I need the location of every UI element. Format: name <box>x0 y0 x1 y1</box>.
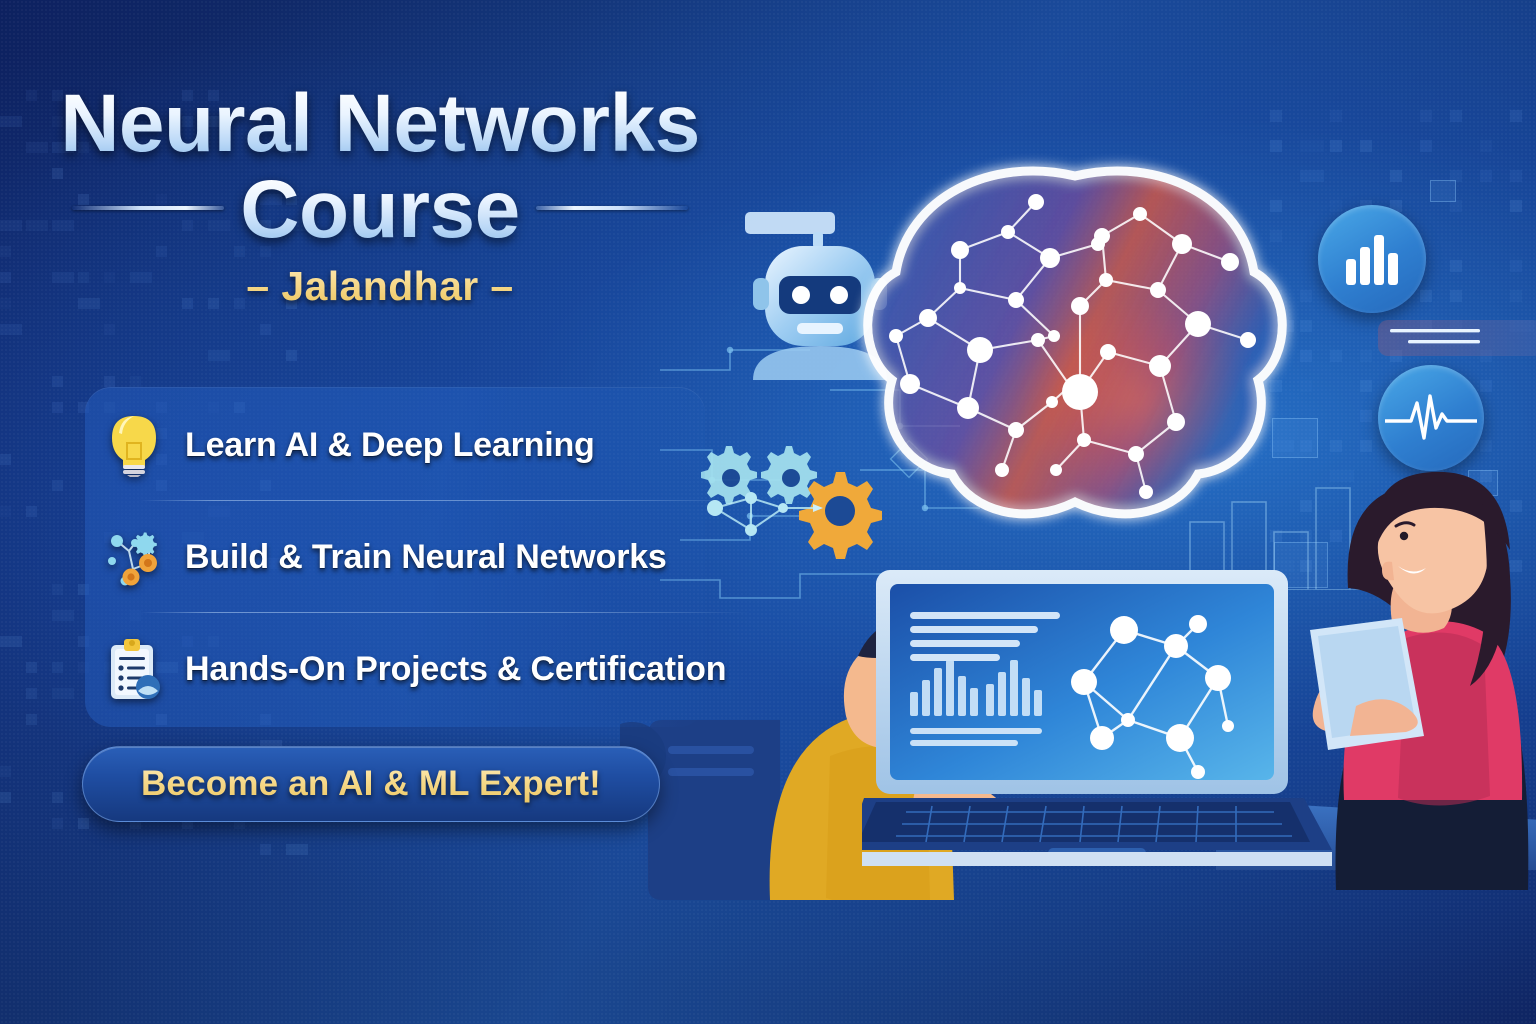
feature-label: Build & Train Neural Networks <box>185 538 667 577</box>
laptop-with-dashboard <box>862 568 1332 868</box>
bar-chart-icon-circle <box>1318 205 1426 313</box>
glass-square <box>1274 542 1328 588</box>
robot-head-icon <box>735 190 905 380</box>
decorative-bar <box>1378 320 1536 356</box>
feature-item-learn: Learn AI & Deep Learning <box>105 397 595 493</box>
brain-center-glow <box>1020 300 1250 500</box>
woman-with-tablet-illustration <box>1296 470 1536 890</box>
title-block: Neural Networks Course – Jalandhar – <box>0 84 760 310</box>
glass-square <box>1430 180 1456 202</box>
page-title-line2: Course <box>240 170 520 250</box>
title-rule-left <box>72 206 224 210</box>
feature-divider <box>140 500 750 501</box>
gears-and-node-graph <box>695 442 885 562</box>
feature-label: Learn AI & Deep Learning <box>185 426 595 465</box>
course-promo-banner: Neural Networks Course – Jalandhar – Lea… <box>0 0 1536 1024</box>
building-outline-graphic <box>1180 470 1380 590</box>
page-title-line1: Neural Networks <box>0 84 760 164</box>
course-row: Course <box>0 168 760 250</box>
pulse-ecg-icon <box>1385 394 1477 442</box>
neural-gear-network-icon <box>105 525 163 589</box>
glowing-neural-brain-graphic <box>840 140 1310 560</box>
circuit-traces <box>660 330 980 620</box>
cta-label: Become an AI & ML Expert! <box>141 764 601 804</box>
cta-button[interactable]: Become an AI & ML Expert! <box>82 746 660 822</box>
feature-divider <box>140 612 750 613</box>
clipboard-checklist-icon <box>105 637 163 701</box>
feature-list-panel: Learn AI & Deep Learning Build & <box>85 387 705 727</box>
feature-item-build: Build & Train Neural Networks <box>105 509 667 605</box>
title-rule-right <box>536 206 688 210</box>
bar-chart-icon <box>1344 233 1400 285</box>
glass-square <box>1468 470 1498 496</box>
feature-item-projects: Hands-On Projects & Certification <box>105 621 726 717</box>
bar-lines <box>1390 325 1510 351</box>
pulse-ecg-icon-circle <box>1378 365 1484 471</box>
glass-square <box>1272 418 1318 458</box>
feature-label: Hands-On Projects & Certification <box>185 650 726 689</box>
desk-surface <box>1216 800 1536 870</box>
lightbulb-icon <box>105 413 163 477</box>
page-subtitle-location: – Jalandhar – <box>0 263 760 310</box>
